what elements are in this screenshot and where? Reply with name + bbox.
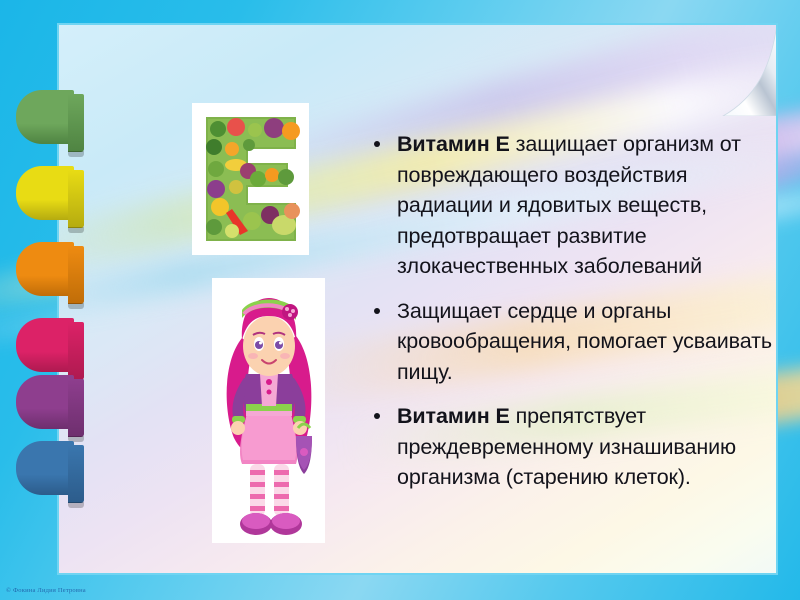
bullet-list: Витамин Е защищает организм от повреждаю… bbox=[367, 129, 778, 507]
bullet-item-1: Витамин Е защищает организм от повреждаю… bbox=[367, 129, 778, 282]
bullet-1-bold-lead: Витамин Е bbox=[397, 132, 510, 156]
bookmark-tab-yellow[interactable] bbox=[16, 166, 84, 220]
bullet-dot-icon bbox=[374, 413, 380, 419]
bookmark-tab-blue[interactable] bbox=[16, 441, 84, 495]
bullet-item-3: Витамин Е препятствует преждевременному … bbox=[367, 401, 778, 493]
bullet-dot-icon bbox=[374, 308, 380, 314]
vegetable-letter-image bbox=[192, 103, 309, 255]
presentation-slide: Витамин Е защищает организм от повреждаю… bbox=[0, 0, 800, 600]
bullet-item-2: Защищает сердце и органы кровообращения,… bbox=[367, 296, 778, 388]
bookmark-tab-purple[interactable] bbox=[16, 375, 84, 429]
slide-content-panel: Витамин Е защищает организм от повреждаю… bbox=[57, 23, 778, 575]
bullet-2-text: Защищает сердце и органы кровообращения,… bbox=[397, 299, 772, 384]
bookmark-tab-orange[interactable] bbox=[16, 242, 84, 296]
cartoon-girl-image bbox=[212, 278, 325, 543]
copyright-watermark: © Фокина Лидия Петровна bbox=[6, 587, 86, 594]
vegetable-letter-graphic bbox=[192, 103, 309, 255]
bullet-dot-icon bbox=[374, 141, 380, 147]
bookmark-tab-pink[interactable] bbox=[16, 318, 84, 372]
page-curl-icon bbox=[685, 24, 777, 116]
cartoon-girl-graphic bbox=[212, 278, 325, 543]
bullet-3-bold-lead: Витамин Е bbox=[397, 404, 510, 428]
bookmark-tabs bbox=[0, 0, 100, 600]
bookmark-tab-green[interactable] bbox=[16, 90, 84, 144]
